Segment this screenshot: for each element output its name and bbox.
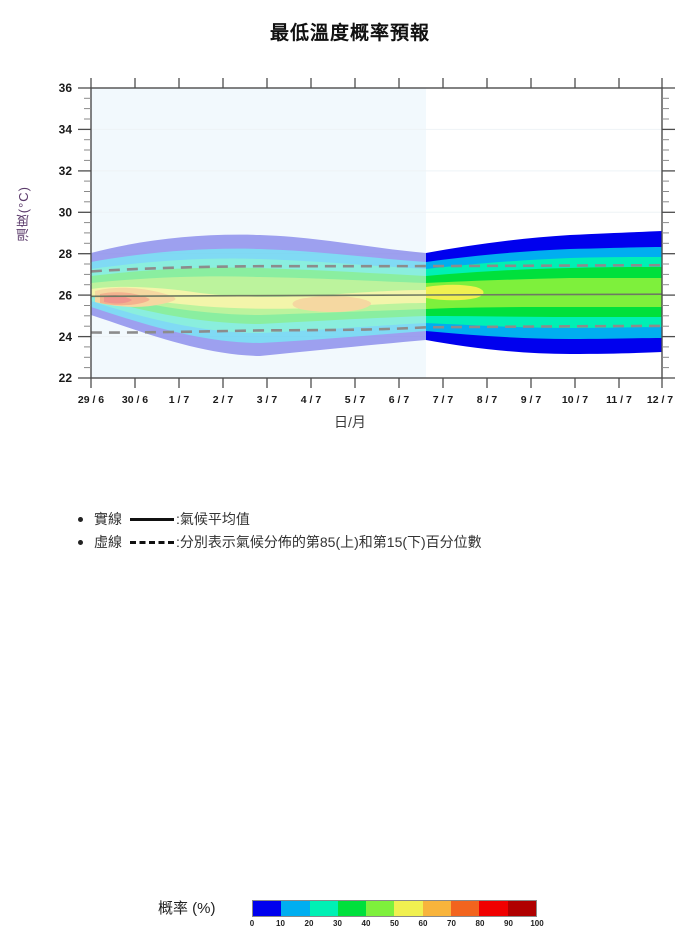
colorbar-tick-label: 60 (419, 919, 428, 928)
colorbar-section: 概率 (%) 0102030405060708090100 (0, 445, 700, 495)
colorbar-tick-label: 80 (476, 919, 485, 928)
colorbar-band (479, 901, 507, 916)
x-tick-label: 4 / 7 (301, 394, 322, 406)
y-tick-label: 36 (59, 81, 73, 95)
x-tick-label: 12 / 7 (647, 394, 673, 406)
legend-row-mean: 實線 :氣候平均值 (78, 508, 638, 531)
colorbar-tick-label: 0 (250, 919, 254, 928)
colorbar-band (394, 901, 422, 916)
colorbar-band (310, 901, 338, 916)
y-tick-label: 34 (59, 123, 73, 137)
colorbar-tick-label: 10 (276, 919, 285, 928)
x-tick-label: 7 / 7 (433, 394, 454, 406)
dashed-line-sample-icon (130, 541, 174, 544)
x-tick-label: 6 / 7 (389, 394, 410, 406)
x-tick-label: 8 / 7 (477, 394, 498, 406)
colorbar-band (281, 901, 309, 916)
colorbar-band (508, 901, 536, 916)
legend-description: :分別表示氣候分佈的第85(上)和第15(下)百分位數 (176, 531, 482, 554)
colorbar-band (253, 901, 281, 916)
y-tick-label: 22 (59, 371, 73, 385)
legend-style-label: 虛線 (94, 531, 122, 554)
x-axis-label: 日/月 (0, 412, 700, 432)
colorbar-tick-label: 30 (333, 919, 342, 928)
forecast-plume-chart: 22 24 26 28 30 32 34 36 29 / 6 30 / 6 1 … (0, 55, 700, 415)
y-tick-label: 26 (59, 288, 73, 302)
page-title: 最低溫度概率預報 (0, 18, 700, 45)
x-tick-label: 29 / 6 (78, 394, 104, 406)
colorbar-tick-labels: 0102030405060708090100 (252, 919, 537, 933)
legend-style-label: 實線 (94, 508, 122, 531)
x-tick-label: 11 / 7 (606, 394, 632, 406)
colorbar-band (366, 901, 394, 916)
colorbar-band (338, 901, 366, 916)
x-tick-label: 1 / 7 (169, 394, 190, 406)
x-tick-label: 10 / 7 (562, 394, 588, 406)
y-tick-label: 24 (59, 330, 73, 344)
colorbar-band (451, 901, 479, 916)
colorbar-tick-label: 50 (390, 919, 399, 928)
colorbar-tick-label: 70 (447, 919, 456, 928)
y-axis-tick-labels: 22 24 26 28 30 32 34 36 (59, 81, 73, 385)
x-tick-label: 2 / 7 (213, 394, 234, 406)
y-tick-label: 32 (59, 164, 73, 178)
colorbar (252, 900, 537, 917)
y-tick-label: 28 (59, 247, 73, 261)
x-axis-tick-labels: 29 / 6 30 / 6 1 / 7 2 / 7 3 / 7 4 / 7 5 … (78, 394, 673, 406)
chart-legend: 實線 :氣候平均值 虛線 :分別表示氣候分佈的第85(上)和第15(下)百分位數 (78, 508, 638, 554)
colorbar-tick-label: 40 (362, 919, 371, 928)
bullet-icon (78, 540, 83, 545)
x-tick-label: 9 / 7 (521, 394, 542, 406)
x-tick-label: 30 / 6 (122, 394, 148, 406)
solid-line-sample-icon (130, 518, 174, 521)
colorbar-title: 概率 (%) (158, 897, 216, 918)
x-tick-label: 3 / 7 (257, 394, 278, 406)
legend-description: :氣候平均值 (176, 508, 250, 531)
colorbar-tick-label: 20 (305, 919, 314, 928)
x-tick-label: 5 / 7 (345, 394, 366, 406)
colorbar-tick-label: 90 (504, 919, 513, 928)
bullet-icon (78, 517, 83, 522)
y-tick-label: 30 (59, 206, 73, 220)
colorbar-tick-label: 100 (530, 919, 543, 928)
plume-forecast-half (426, 231, 662, 354)
colorbar-band (423, 901, 451, 916)
plot-svg: 22 24 26 28 30 32 34 36 29 / 6 30 / 6 1 … (0, 55, 700, 415)
legend-row-percentiles: 虛線 :分別表示氣候分佈的第85(上)和第15(下)百分位數 (78, 531, 638, 554)
